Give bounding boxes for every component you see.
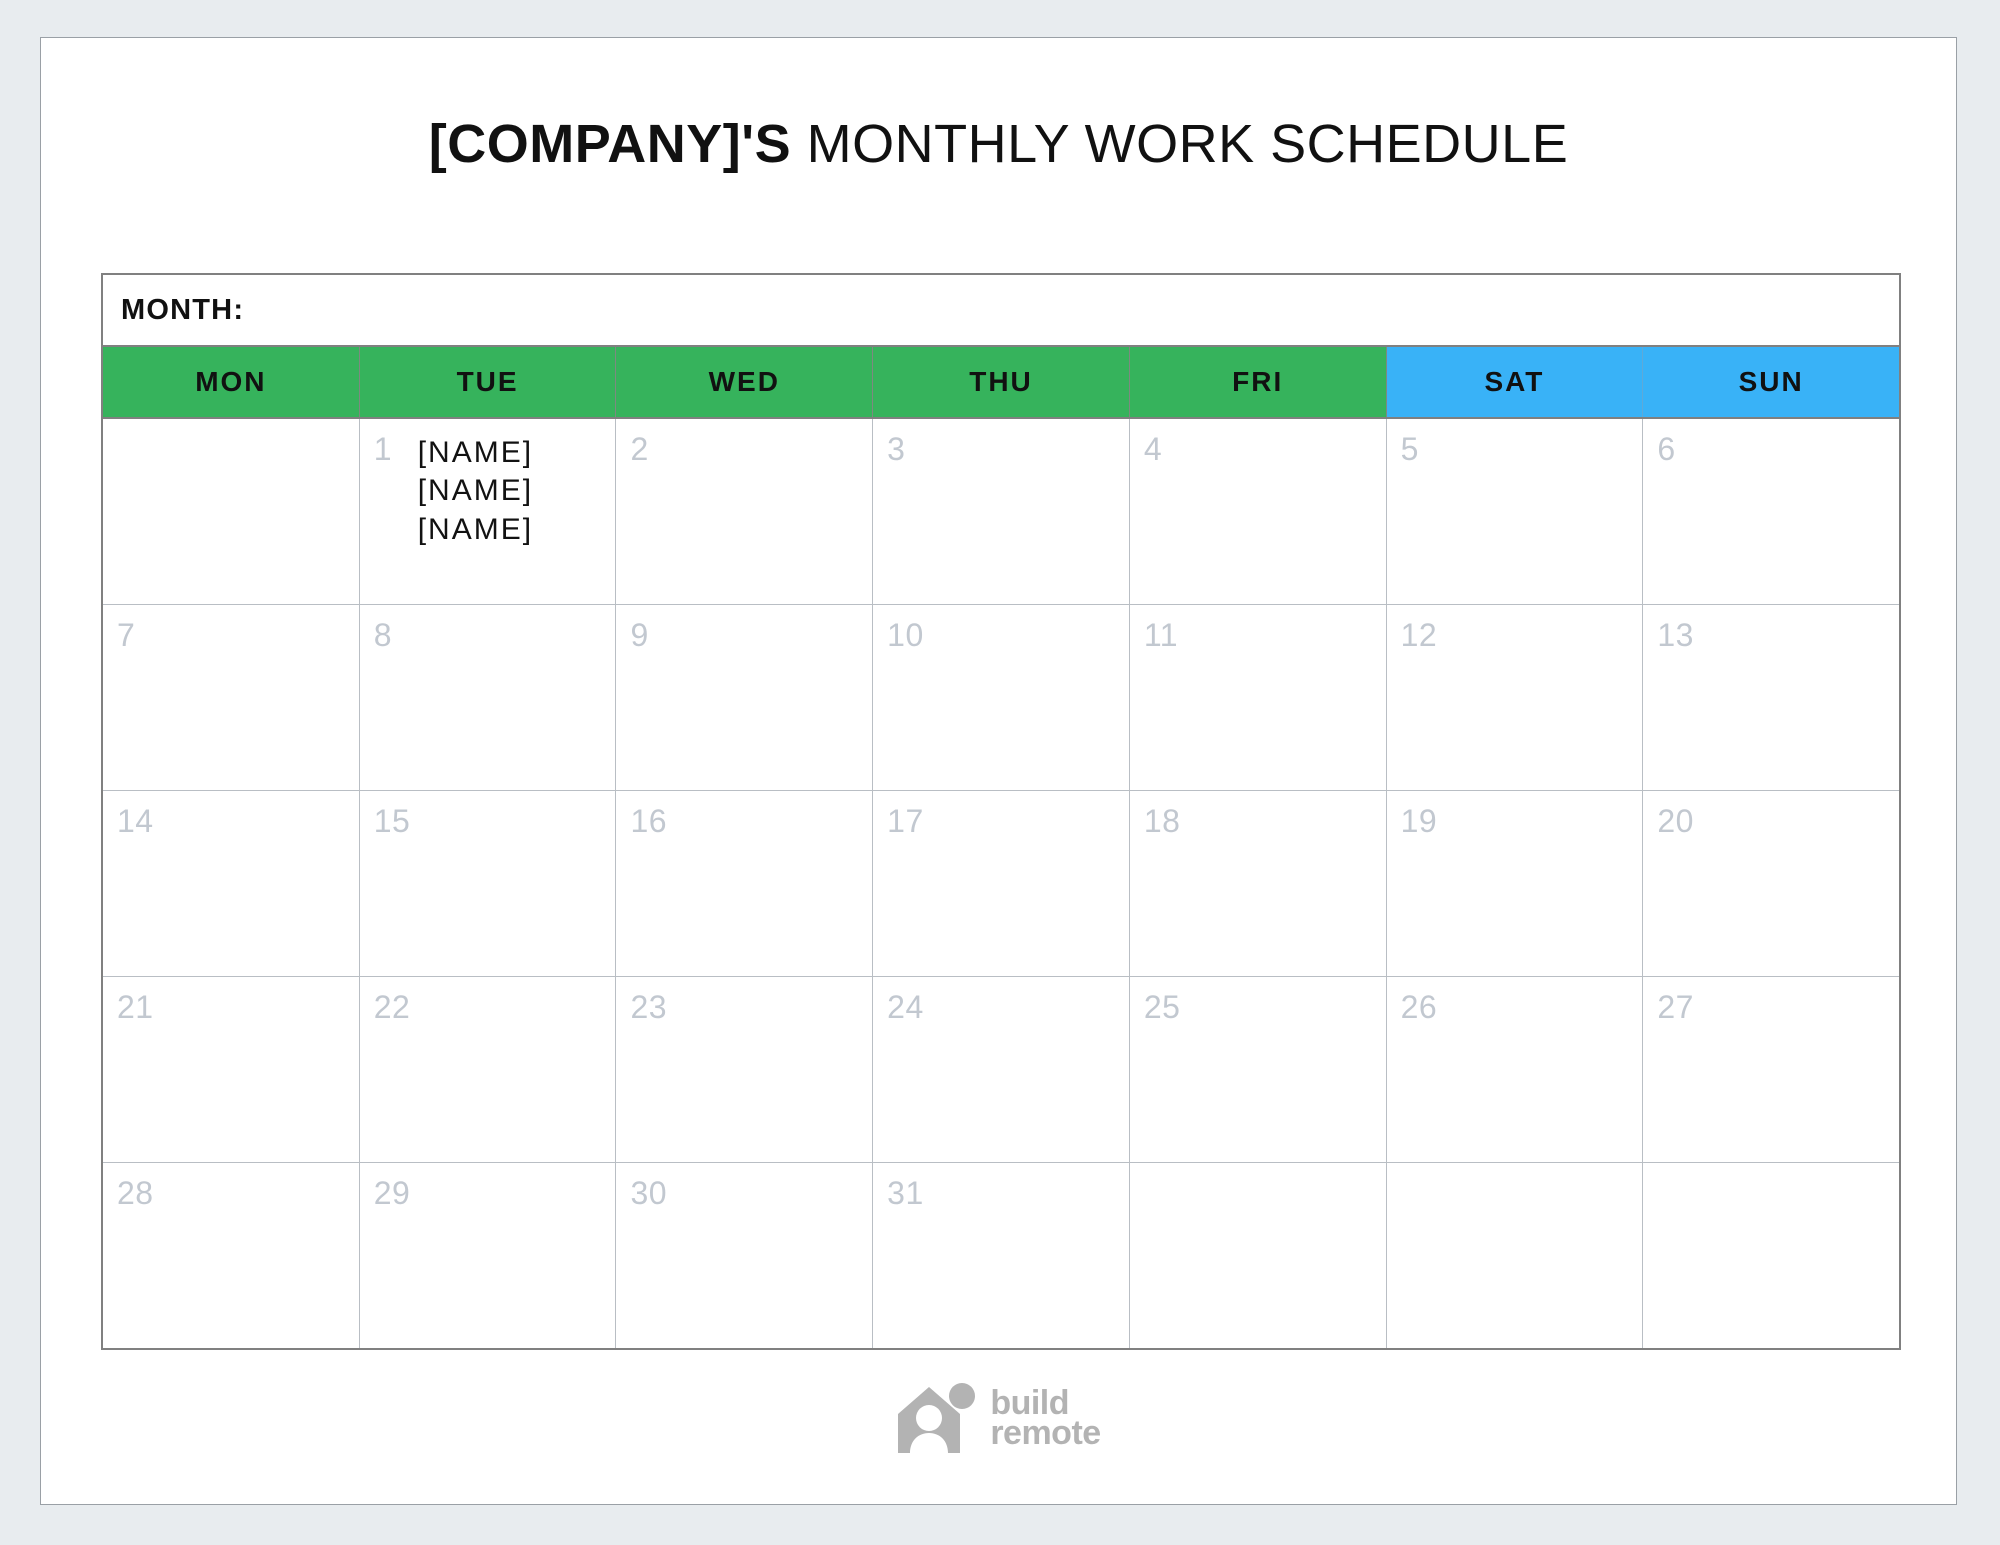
day-cell[interactable]: 11 (1130, 605, 1387, 790)
day-cell[interactable]: 13 (1643, 605, 1899, 790)
day-number: 29 (374, 1177, 411, 1209)
day-number: 3 (887, 433, 905, 465)
day-number: 27 (1657, 991, 1694, 1023)
day-cell[interactable]: 29 (360, 1163, 617, 1348)
day-cell[interactable]: 4 (1130, 419, 1387, 604)
month-row: MONTH: (103, 275, 1899, 347)
day-number: 22 (374, 991, 411, 1023)
day-header-sat: SAT (1387, 347, 1644, 417)
day-cell[interactable]: 21 (103, 977, 360, 1162)
day-cell[interactable]: 15 (360, 791, 617, 976)
day-cell[interactable]: 1[NAME][NAME][NAME] (360, 419, 617, 604)
monthly-schedule-table: MONTH: MONTUEWEDTHUFRISATSUN 1[NAME][NAM… (101, 273, 1901, 1350)
day-header-label: MON (195, 366, 266, 398)
day-cell[interactable]: 23 (616, 977, 873, 1162)
day-header-label: TUE (457, 366, 519, 398)
day-number: 13 (1657, 619, 1694, 651)
day-number: 4 (1144, 433, 1162, 465)
week-row: 1[NAME][NAME][NAME]23456 (103, 417, 1899, 604)
day-cell[interactable]: 9 (616, 605, 873, 790)
day-cell[interactable]: 17 (873, 791, 1130, 976)
day-number: 16 (630, 805, 667, 837)
day-entries: [NAME][NAME][NAME] (418, 433, 608, 549)
month-label: MONTH: (103, 294, 244, 327)
day-cell[interactable]: 5 (1387, 419, 1644, 604)
day-cell[interactable]: 24 (873, 977, 1130, 1162)
day-cell-empty[interactable] (1387, 1163, 1644, 1348)
day-cell[interactable]: 6 (1643, 419, 1899, 604)
day-number: 2 (630, 433, 648, 465)
day-header-label: FRI (1232, 366, 1283, 398)
schedule-entry[interactable]: [NAME] (418, 472, 608, 510)
day-cell[interactable]: 31 (873, 1163, 1130, 1348)
day-number: 25 (1144, 991, 1181, 1023)
day-number: 18 (1144, 805, 1181, 837)
day-cell[interactable]: 25 (1130, 977, 1387, 1162)
day-number: 5 (1401, 433, 1419, 465)
day-cell[interactable]: 28 (103, 1163, 360, 1348)
day-number: 11 (1144, 619, 1178, 651)
day-cell[interactable]: 10 (873, 605, 1130, 790)
weeks-container: 1[NAME][NAME][NAME]234567891011121314151… (103, 417, 1899, 1348)
day-number: 14 (117, 805, 154, 837)
day-header-label: WED (709, 366, 780, 398)
day-cell[interactable]: 14 (103, 791, 360, 976)
page-title: [COMPANY]'S MONTHLY WORK SCHEDULE (41, 116, 1956, 173)
day-number: 24 (887, 991, 924, 1023)
day-number: 31 (887, 1177, 924, 1209)
buildremote-logo: build remote (896, 1383, 1100, 1455)
day-cell[interactable]: 20 (1643, 791, 1899, 976)
page-title-rest: MONTHLY WORK SCHEDULE (791, 114, 1568, 174)
day-number: 26 (1401, 991, 1438, 1023)
day-number: 17 (887, 805, 924, 837)
day-number: 28 (117, 1177, 154, 1209)
day-number: 20 (1657, 805, 1694, 837)
day-number: 1 (374, 433, 392, 465)
buildremote-wordmark: build remote (990, 1389, 1100, 1449)
day-cell[interactable]: 8 (360, 605, 617, 790)
week-row: 14151617181920 (103, 790, 1899, 976)
day-cell[interactable]: 22 (360, 977, 617, 1162)
day-cell[interactable]: 3 (873, 419, 1130, 604)
day-cell[interactable]: 27 (1643, 977, 1899, 1162)
day-number: 21 (117, 991, 154, 1023)
day-cell[interactable]: 16 (616, 791, 873, 976)
day-number: 15 (374, 805, 411, 837)
day-cell-empty[interactable] (103, 419, 360, 604)
day-number: 10 (887, 619, 924, 651)
day-number: 30 (630, 1177, 667, 1209)
day-header-wed: WED (616, 347, 873, 417)
schedule-entry[interactable]: [NAME] (418, 434, 608, 472)
day-number: 6 (1657, 433, 1675, 465)
day-cell[interactable]: 2 (616, 419, 873, 604)
day-cell-empty[interactable] (1643, 1163, 1899, 1348)
day-number: 8 (374, 619, 392, 651)
day-cell-empty[interactable] (1130, 1163, 1387, 1348)
day-header-thu: THU (873, 347, 1130, 417)
day-cell[interactable]: 7 (103, 605, 360, 790)
worksheet-page: [COMPANY]'S MONTHLY WORK SCHEDULE MONTH:… (40, 37, 1957, 1505)
day-cell[interactable]: 12 (1387, 605, 1644, 790)
day-cell[interactable]: 19 (1387, 791, 1644, 976)
logo-line-remote: remote (990, 1419, 1100, 1449)
day-header-label: THU (969, 366, 1033, 398)
day-of-week-header-row: MONTUEWEDTHUFRISATSUN (103, 347, 1899, 417)
day-number: 12 (1401, 619, 1438, 651)
day-header-tue: TUE (360, 347, 617, 417)
day-cell[interactable]: 26 (1387, 977, 1644, 1162)
day-cell[interactable]: 18 (1130, 791, 1387, 976)
week-row: 78910111213 (103, 604, 1899, 790)
page-title-company: [COMPANY]'S (429, 114, 791, 174)
day-number: 7 (117, 619, 135, 651)
buildremote-house-icon (896, 1383, 980, 1455)
day-header-fri: FRI (1130, 347, 1387, 417)
day-number: 19 (1401, 805, 1438, 837)
day-number: 23 (630, 991, 667, 1023)
day-header-label: SAT (1484, 366, 1544, 398)
day-header-sun: SUN (1643, 347, 1899, 417)
day-header-mon: MON (103, 347, 360, 417)
week-row: 21222324252627 (103, 976, 1899, 1162)
day-cell[interactable]: 30 (616, 1163, 873, 1348)
day-number: 9 (630, 619, 648, 651)
schedule-entry[interactable]: [NAME] (418, 511, 608, 549)
day-header-label: SUN (1739, 366, 1804, 398)
week-row: 28293031 (103, 1162, 1899, 1348)
footer: build remote (41, 1383, 1956, 1455)
